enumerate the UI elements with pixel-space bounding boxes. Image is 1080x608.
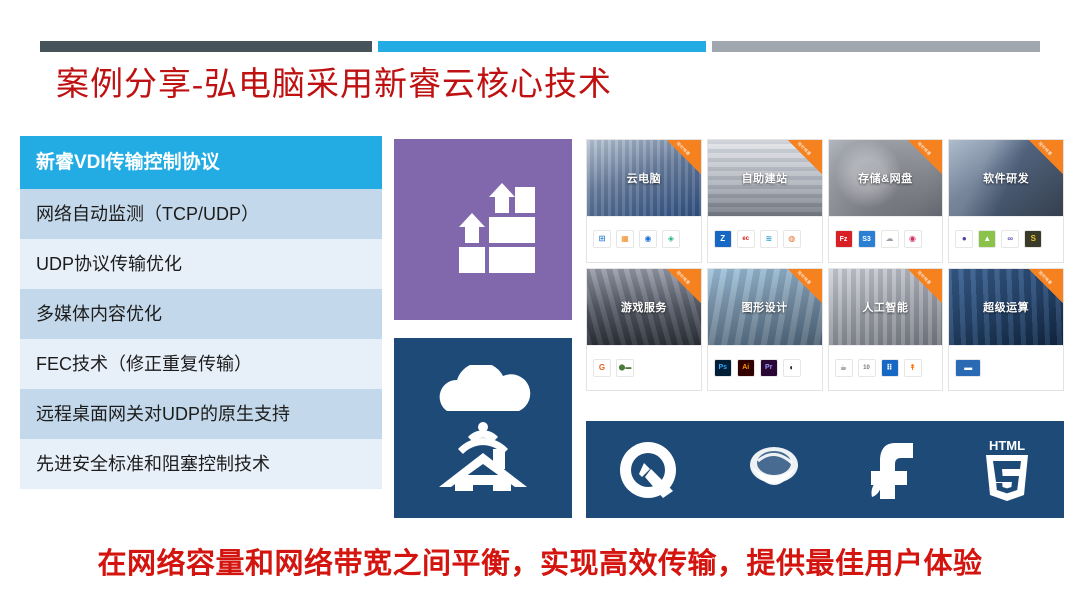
cloud-wifi-house-icon bbox=[425, 365, 541, 491]
promo-ribbon-label: 限时特惠 bbox=[1029, 269, 1062, 294]
feature-list-header: 新睿VDI传输控制协议 bbox=[20, 136, 382, 189]
service-card[interactable]: 限时特惠 软件研发 ● ▲ ∞ S bbox=[948, 139, 1064, 263]
list-item[interactable]: 先进安全标准和阻塞控制技术 bbox=[20, 439, 382, 489]
list-item[interactable]: 远程桌面网关对UDP的原生支持 bbox=[20, 389, 382, 439]
service-card[interactable]: 限时特惠 云电脑 ⊞ ▦ ◉ ◈ bbox=[586, 139, 702, 263]
service-card[interactable]: 限时特惠 游戏服务 G ⬤▬ bbox=[586, 268, 702, 392]
card-app-icons: ☕ 10 ⠿ ↟ bbox=[829, 345, 943, 391]
service-card[interactable]: 限时特惠 图形设计 Ps Ai Pr ◐ bbox=[707, 268, 823, 392]
promo-ribbon: 限时特惠 bbox=[1029, 269, 1063, 303]
qr-app-icon[interactable]: ▦ bbox=[616, 230, 634, 248]
feature-list: 新睿VDI传输控制协议 网络自动监测（TCP/UDP） UDP协议传输优化 多媒… bbox=[20, 136, 382, 489]
bar-growth-icon bbox=[431, 181, 535, 279]
torch-icon[interactable]: 10 bbox=[858, 359, 876, 377]
card-label: 图形设计 bbox=[742, 299, 788, 315]
ecshop-icon[interactable]: ec bbox=[737, 230, 755, 248]
cinema4d-icon[interactable]: ◐ bbox=[783, 359, 801, 377]
card-label: 云电脑 bbox=[627, 170, 662, 186]
java-icon[interactable]: ● bbox=[955, 230, 973, 248]
html5-logo: HTML bbox=[981, 437, 1033, 503]
slide-root: 案例分享-弘电脑采用新睿云核心技术 新睿VDI传输控制协议 网络自动监测（TCP… bbox=[0, 0, 1080, 608]
bar-gray bbox=[712, 41, 1040, 52]
top-decorative-bars bbox=[0, 41, 1080, 52]
illustrator-icon[interactable]: Ai bbox=[737, 359, 755, 377]
card-app-icons: Z ec ≋ ◍ bbox=[708, 216, 822, 262]
quicktime-logo bbox=[617, 439, 679, 501]
bar-dark bbox=[40, 41, 372, 52]
card-thumbnail: 限时特惠 软件研发 bbox=[949, 140, 1063, 216]
promo-ribbon: 限时特惠 bbox=[667, 140, 701, 174]
android-studio-icon[interactable]: ▲ bbox=[978, 230, 996, 248]
list-item[interactable]: FEC技术（修正重复传输） bbox=[20, 339, 382, 389]
promo-ribbon-label: 限时特惠 bbox=[1029, 140, 1062, 165]
windows-icon[interactable]: ⊞ bbox=[593, 230, 611, 248]
gamepad-icon[interactable]: ⬤▬ bbox=[616, 359, 634, 377]
promo-ribbon-label: 限时特惠 bbox=[908, 269, 941, 294]
premiere-icon[interactable]: Pr bbox=[760, 359, 778, 377]
service-card-grid: 限时特惠 云电脑 ⊞ ▦ ◉ ◈ 限时特惠 自助建站 Z ec ≋ ◍ bbox=[586, 139, 1064, 391]
card-label: 游戏服务 bbox=[621, 299, 667, 315]
card-app-icons: Fz S3 ☁ ◉ bbox=[829, 216, 943, 262]
promo-ribbon: 限时特惠 bbox=[788, 140, 822, 174]
tensorflow-icon[interactable]: ↟ bbox=[904, 359, 922, 377]
green-house-app-icon[interactable]: ◈ bbox=[662, 230, 680, 248]
promo-ribbon-label: 限时特惠 bbox=[908, 140, 941, 165]
silverlight-icon bbox=[742, 441, 806, 499]
sublime-text-icon[interactable]: S bbox=[1024, 230, 1042, 248]
card-label: 存储&网盘 bbox=[858, 170, 912, 186]
svg-text:HTML: HTML bbox=[989, 438, 1025, 453]
card-thumbnail: 限时特惠 图形设计 bbox=[708, 269, 822, 345]
tensorflow-cluster-icon[interactable]: ⠿ bbox=[881, 359, 899, 377]
bottom-caption: 在网络容量和网络带宽之间平衡，实现高效传输，提供最佳用户体验 bbox=[0, 540, 1080, 582]
s3-browser-icon[interactable]: S3 bbox=[858, 230, 876, 248]
list-item[interactable]: 网络自动监测（TCP/UDP） bbox=[20, 189, 382, 239]
promo-ribbon: 限时特惠 bbox=[667, 269, 701, 303]
wordpress-icon[interactable]: ≋ bbox=[760, 230, 778, 248]
service-card[interactable]: 限时特惠 人工智能 ☕ 10 ⠿ ↟ bbox=[828, 268, 944, 392]
card-app-icons: ⊞ ▦ ◉ ◈ bbox=[587, 216, 701, 262]
card-thumbnail: 限时特惠 人工智能 bbox=[829, 269, 943, 345]
card-thumbnail: 限时特惠 云电脑 bbox=[587, 140, 701, 216]
flash-logo bbox=[868, 439, 918, 501]
card-label: 人工智能 bbox=[862, 299, 908, 315]
silverlight-logo bbox=[742, 441, 806, 499]
page-title: 案例分享-弘电脑采用新睿云核心技术 bbox=[56, 62, 676, 108]
service-card[interactable]: 限时特惠 自助建站 Z ec ≋ ◍ bbox=[707, 139, 823, 263]
card-thumbnail: 限时特惠 游戏服务 bbox=[587, 269, 701, 345]
promo-ribbon: 限时特惠 bbox=[908, 269, 942, 303]
card-app-icons: Ps Ai Pr ◐ bbox=[708, 345, 822, 391]
list-item[interactable]: UDP协议传输优化 bbox=[20, 239, 382, 289]
promo-ribbon: 限时特惠 bbox=[908, 140, 942, 174]
card-app-icons: G ⬤▬ bbox=[587, 345, 701, 391]
cloud-home-tile bbox=[394, 338, 572, 518]
card-thumbnail: 限时特惠 自助建站 bbox=[708, 140, 822, 216]
service-card[interactable]: 限时特惠 存储&网盘 Fz S3 ☁ ◉ bbox=[828, 139, 944, 263]
hpc-suite-icon[interactable]: ▬ bbox=[955, 359, 981, 377]
growth-chart-tile bbox=[394, 139, 572, 320]
promo-ribbon-label: 限时特惠 bbox=[787, 269, 820, 294]
card-app-icons: ▬ bbox=[949, 345, 1063, 391]
card-label: 自助建站 bbox=[742, 170, 788, 186]
list-item[interactable]: 多媒体内容优化 bbox=[20, 289, 382, 339]
html5-icon: HTML bbox=[981, 437, 1033, 503]
tencent-game-icon[interactable]: G bbox=[593, 359, 611, 377]
promo-ribbon: 限时特惠 bbox=[788, 269, 822, 303]
ceph-icon[interactable]: ◉ bbox=[904, 230, 922, 248]
card-app-icons: ● ▲ ∞ S bbox=[949, 216, 1063, 262]
blue-circle-app-icon[interactable]: ◉ bbox=[639, 230, 657, 248]
card-label: 超级运算 bbox=[983, 299, 1029, 315]
zblog-icon[interactable]: Z bbox=[714, 230, 732, 248]
quicktime-icon bbox=[617, 439, 679, 501]
promo-ribbon-label: 限时特惠 bbox=[666, 269, 699, 294]
media-logo-strip: HTML bbox=[586, 421, 1064, 518]
promo-ribbon-label: 限时特惠 bbox=[666, 140, 699, 165]
visual-studio-icon[interactable]: ∞ bbox=[1001, 230, 1019, 248]
card-thumbnail: 限时特惠 超级运算 bbox=[949, 269, 1063, 345]
flash-icon bbox=[868, 439, 918, 501]
caffe-icon[interactable]: ☕ bbox=[835, 359, 853, 377]
photoshop-icon[interactable]: Ps bbox=[714, 359, 732, 377]
card-label: 软件研发 bbox=[983, 170, 1029, 186]
magento-icon[interactable]: ◍ bbox=[783, 230, 801, 248]
service-card[interactable]: 限时特惠 超级运算 ▬ bbox=[948, 268, 1064, 392]
owncloud-icon[interactable]: ☁ bbox=[881, 230, 899, 248]
promo-ribbon: 限时特惠 bbox=[1029, 140, 1063, 174]
bar-blue bbox=[378, 41, 706, 52]
card-thumbnail: 限时特惠 存储&网盘 bbox=[829, 140, 943, 216]
filezilla-icon[interactable]: Fz bbox=[835, 230, 853, 248]
promo-ribbon-label: 限时特惠 bbox=[787, 140, 820, 165]
